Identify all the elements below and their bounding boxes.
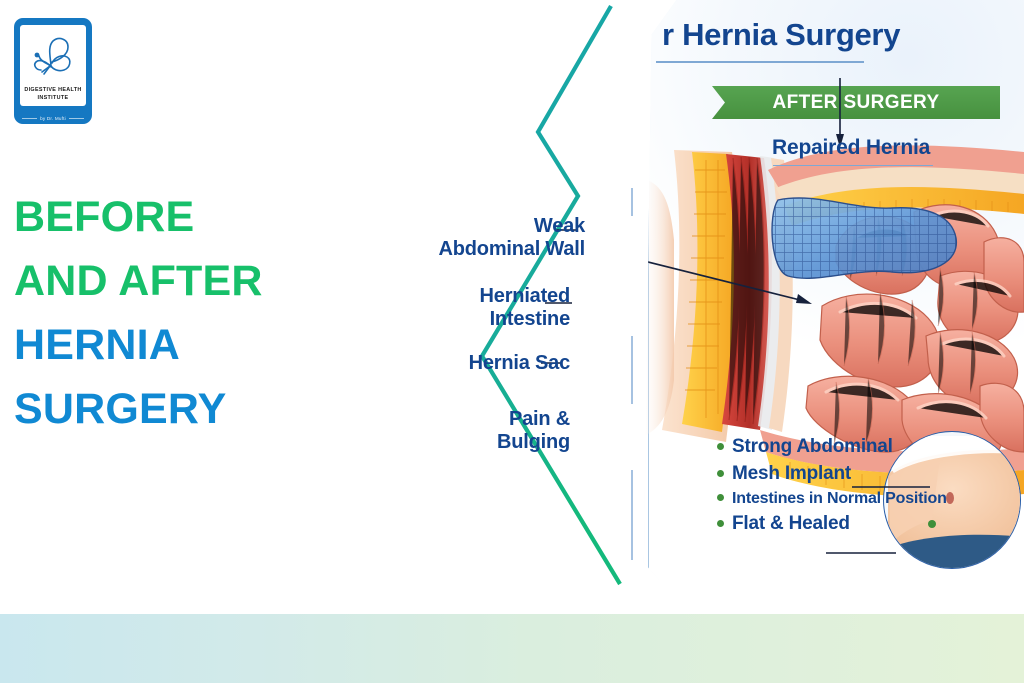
- bullet-dot-icon: [717, 443, 724, 450]
- bullet-mesh-implant: Mesh Implant: [717, 463, 967, 485]
- bullet-label: Strong Abdominal: [732, 436, 893, 458]
- bullet-intestines-normal-position: Intestines in Normal Position: [717, 490, 967, 508]
- label-weak-abdominal-wall: Weak Abdominal Wall: [420, 215, 585, 261]
- anatomy-left-labels: Weak Abdominal Wall Herniated Intestine …: [0, 0, 640, 683]
- label-leader-lines: [0, 0, 640, 683]
- bullet-dot-icon: [717, 520, 724, 527]
- bullet-dot-icon: [717, 494, 724, 501]
- bullet-label: Flat & Healed: [732, 513, 850, 535]
- bullet-label: Intestines in Normal Position: [732, 490, 947, 508]
- label-herniated-intestine: Herniated Intestine: [420, 285, 570, 331]
- outcome-bullet-list: Strong Abdominal Mesh Implant Intestines…: [717, 436, 967, 540]
- label-pain-bulging: Pain & Bulging: [420, 408, 570, 454]
- bullet-flat-healed: Flat & Healed: [717, 513, 967, 535]
- label-repaired-hernia-rule: [773, 165, 933, 166]
- bullet-label: Mesh Implant: [732, 463, 851, 485]
- infographic-canvas: DIGESTIVE HEALTH INSTITUTE by Dr. Mufti …: [0, 0, 1024, 683]
- bottom-gradient-band: [0, 614, 1024, 683]
- skin-fade: [640, 178, 674, 438]
- label-hernia-sac: Hernia Sac: [420, 352, 570, 375]
- label-repaired-hernia: Repaired Hernia: [772, 136, 930, 160]
- bullet-strong-abdominal: Strong Abdominal: [717, 436, 967, 458]
- abdominal-wall-layers: [640, 150, 793, 442]
- bullet-dot-icon: [717, 470, 724, 477]
